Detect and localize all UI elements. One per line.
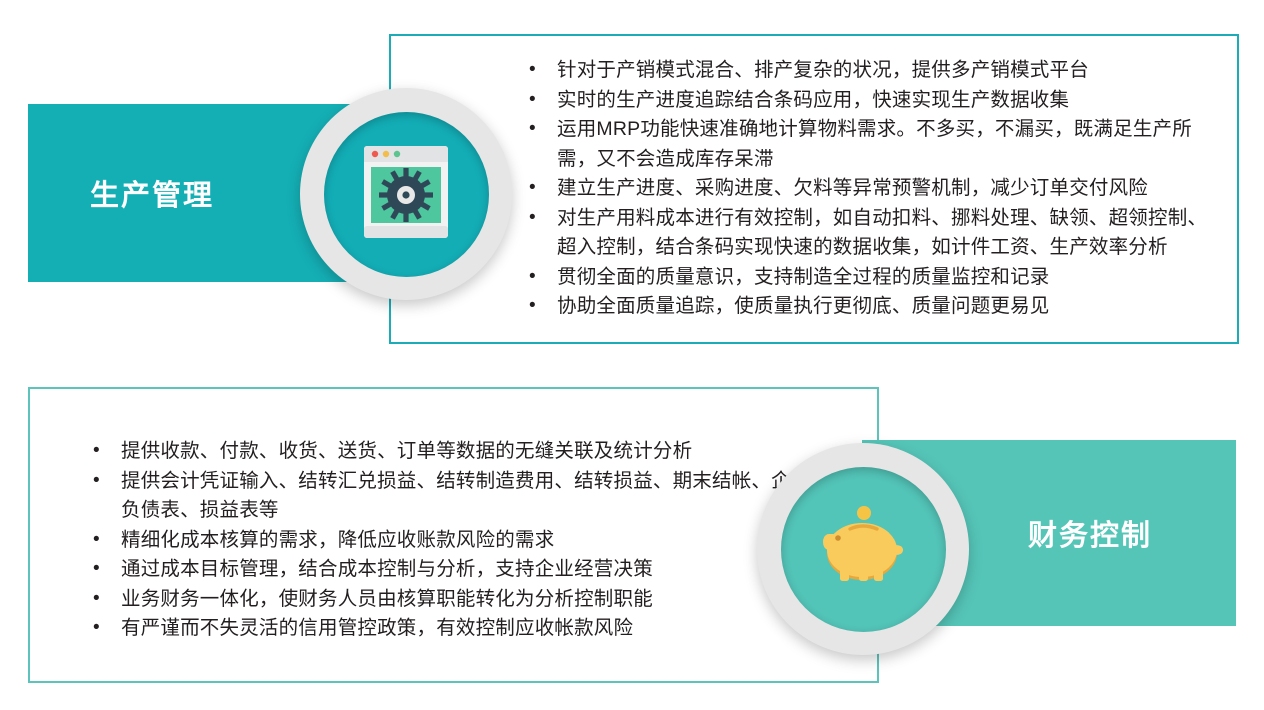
list-item: 实时的生产进度追踪结合条码应用，快速实现生产数据收集 xyxy=(523,86,1215,116)
list-item: 建立生产进度、采购进度、欠料等异常预警机制，减少订单交付风险 xyxy=(523,174,1215,204)
piggy-bank-coin-icon xyxy=(817,501,909,598)
finance-emblem xyxy=(757,443,969,655)
list-item: 对生产用料成本进行有效控制，如自动扣料、挪料处理、缺领、超领控制、超入控制，结合… xyxy=(523,204,1215,263)
list-item: 贯彻全面的质量意识，支持制造全过程的质量监控和记录 xyxy=(523,263,1215,293)
production-title: 生产管理 xyxy=(90,172,214,214)
production-bullet-list: 针对于产销模式混合、排产复杂的状况，提供多产销模式平台 实时的生产进度追踪结合条… xyxy=(523,56,1215,322)
browser-window-gear-icon xyxy=(364,146,448,243)
list-item: 运用MRP功能快速准确地计算物料需求。不多买，不漏买，既满足生产所需，又不会造成… xyxy=(523,115,1215,174)
list-item: 针对于产销模式混合、排产复杂的状况，提供多产销模式平台 xyxy=(523,56,1215,86)
list-item: 提供会计凭证输入、结转汇兑损益、结转制造费用、结转损益、期末结帐、企业资产负债表… xyxy=(87,467,855,526)
production-emblem-inner xyxy=(324,112,489,277)
list-item: 精细化成本核算的需求，降低应收账款风险的需求 xyxy=(87,526,855,556)
list-item: 有严谨而不失灵活的信用管控政策，有效控制应收帐款风险 xyxy=(87,614,855,644)
list-item: 业务财务一体化，使财务人员由核算职能转化为分析控制职能 xyxy=(87,585,855,615)
production-content-box: 针对于产销模式混合、排产复杂的状况，提供多产销模式平台 实时的生产进度追踪结合条… xyxy=(389,34,1239,344)
finance-bullet-list: 提供收款、付款、收货、送货、订单等数据的无缝关联及统计分析 提供会计凭证输入、结… xyxy=(87,437,855,644)
list-item: 提供收款、付款、收货、送货、订单等数据的无缝关联及统计分析 xyxy=(87,437,855,467)
finance-content-box: 提供收款、付款、收货、送货、订单等数据的无缝关联及统计分析 提供会计凭证输入、结… xyxy=(28,387,879,683)
finance-emblem-inner xyxy=(781,467,946,632)
production-emblem xyxy=(300,88,512,300)
finance-title: 财务控制 xyxy=(1028,512,1152,554)
list-item: 协助全面质量追踪，使质量执行更彻底、质量问题更易见 xyxy=(523,292,1215,322)
list-item: 通过成本目标管理，结合成本控制与分析，支持企业经营决策 xyxy=(87,555,855,585)
